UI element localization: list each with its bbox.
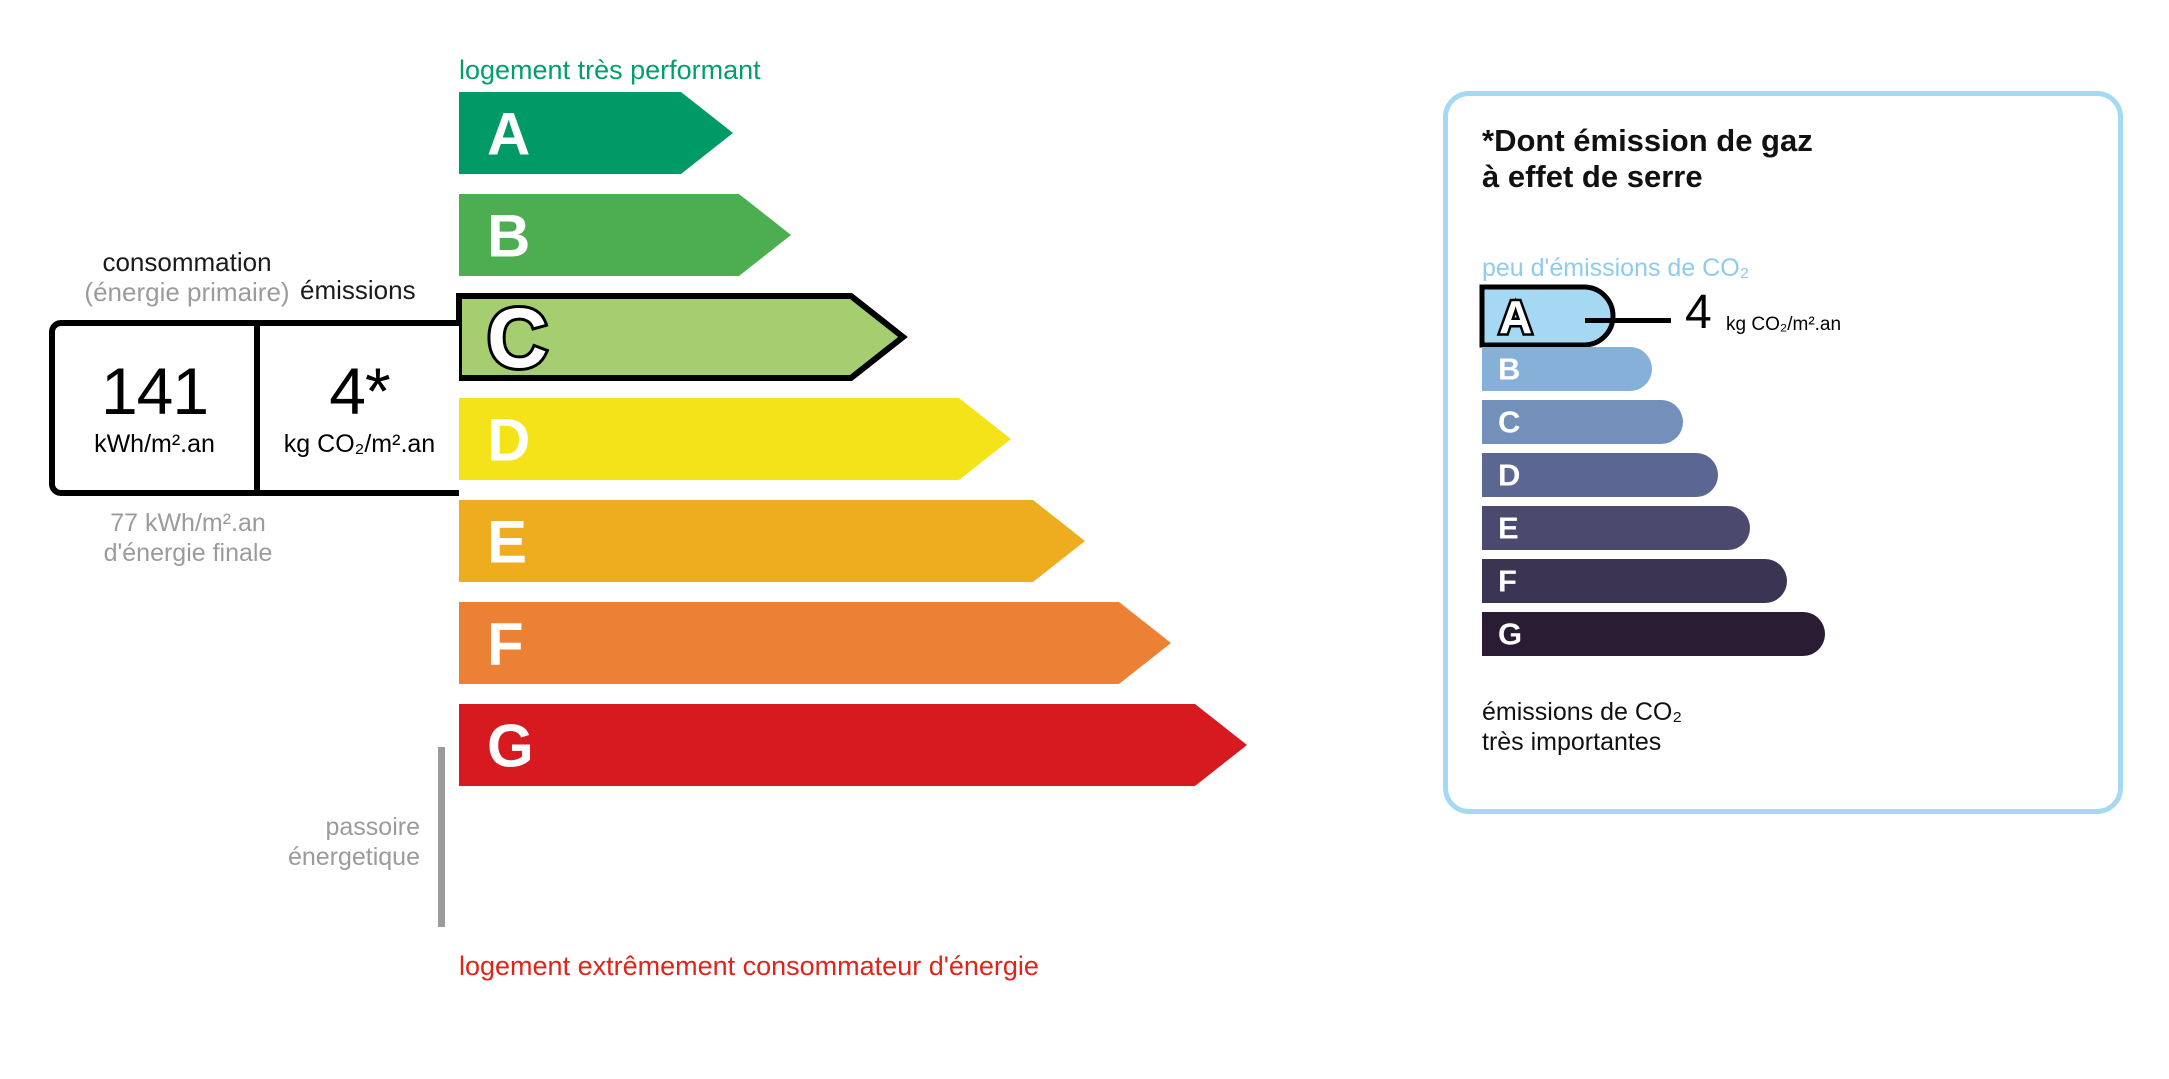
- emissions-label: émissions: [300, 275, 416, 306]
- co2-value-connector-line: [1585, 318, 1671, 323]
- energy-band-letter: G: [487, 713, 534, 780]
- co2-bar-letter: C: [1498, 407, 1520, 438]
- co2-bar-g[interactable]: G: [1482, 612, 1825, 656]
- co2-title-line2: à effet de serre: [1482, 159, 1703, 194]
- co2-emissions-panel: *Dont émission de gaz à effet de serre p…: [1443, 91, 2123, 814]
- co2-value: 4: [1685, 289, 1712, 337]
- co2-bar-letter: E: [1498, 513, 1519, 544]
- energy-value-box: 141 kWh/m².an 4* kg CO₂/m².an: [49, 320, 459, 496]
- co2-bar-shape: G: [1482, 612, 1825, 656]
- consumption-label-sub: (énergie primaire): [62, 278, 312, 308]
- co2-bar-shape: C: [1482, 400, 1683, 444]
- consumption-value: 141: [101, 358, 208, 424]
- co2-bar-shape: F: [1482, 559, 1787, 603]
- co2-bar-letter: D: [1498, 460, 1520, 491]
- co2-bar-shape: D: [1482, 453, 1718, 497]
- co2-bar-letter: A: [1499, 291, 1532, 343]
- co2-bar-a[interactable]: A: [1482, 294, 1618, 338]
- co2-bar-letter: F: [1498, 566, 1517, 597]
- energy-band-letter: A: [487, 101, 530, 168]
- emissions-value-cell: 4* kg CO₂/m².an: [260, 326, 459, 490]
- co2-bar-f[interactable]: F: [1482, 559, 1787, 603]
- energy-band-shape: [459, 500, 1085, 582]
- co2-bar-e[interactable]: E: [1482, 506, 1750, 550]
- co2-title-line1: *Dont émission de gaz: [1482, 123, 1813, 158]
- passoire-label: passoire énergetique: [220, 812, 420, 872]
- energy-band-e[interactable]: E: [459, 500, 1085, 582]
- energy-band-shape: [459, 398, 1011, 480]
- co2-bar-letter: B: [1498, 354, 1520, 385]
- final-energy-note: 77 kWh/m².an d'énergie finale: [58, 508, 318, 568]
- emissions-value: 4*: [329, 358, 389, 424]
- co2-bottom-caption: émissions de CO₂ très importantes: [1482, 698, 1682, 757]
- energy-band-letter: B: [487, 203, 530, 270]
- emissions-unit: kg CO₂/m².an: [284, 430, 435, 459]
- energy-band-b[interactable]: B: [459, 194, 791, 276]
- co2-bar-letter: G: [1498, 619, 1522, 650]
- co2-bar-d[interactable]: D: [1482, 453, 1718, 497]
- co2-bar-shape: E: [1482, 506, 1750, 550]
- consumption-value-cell: 141 kWh/m².an: [55, 326, 260, 490]
- energy-band-letter: F: [487, 611, 524, 678]
- energy-band-g[interactable]: G: [459, 704, 1247, 786]
- co2-bar-c[interactable]: C: [1482, 400, 1683, 444]
- energy-band-c[interactable]: C: [459, 296, 908, 378]
- energy-band-letter: E: [487, 509, 527, 576]
- co2-top-caption: peu d'émissions de CO₂: [1482, 254, 1749, 283]
- passoire-label-line2: énergetique: [288, 843, 420, 871]
- co2-bar-b[interactable]: B: [1482, 347, 1652, 391]
- passoire-marker-bar: [438, 747, 445, 927]
- energy-band-shape: [459, 602, 1171, 684]
- co2-value-unit: kg CO₂/m².an: [1726, 314, 1841, 336]
- co2-panel-title: *Dont émission de gaz à effet de serre: [1482, 123, 1813, 196]
- energy-band-d[interactable]: D: [459, 398, 1011, 480]
- consumption-label: consommation (énergie primaire): [62, 248, 312, 307]
- energy-band-letter: C: [487, 291, 548, 385]
- consumption-unit: kWh/m².an: [94, 430, 215, 459]
- co2-bottom-caption-line1: émissions de CO₂: [1482, 698, 1682, 726]
- consumption-label-main: consommation: [102, 247, 271, 277]
- co2-bottom-caption-line2: très importantes: [1482, 728, 1661, 756]
- co2-bar-shape: B: [1482, 347, 1652, 391]
- energy-band-letter: D: [487, 407, 530, 474]
- energy-band-f[interactable]: F: [459, 602, 1171, 684]
- energy-top-caption: logement très performant: [459, 55, 761, 86]
- passoire-label-line1: passoire: [326, 813, 421, 841]
- energy-band-shape: [459, 704, 1247, 786]
- final-energy-value: 77 kWh/m².an: [110, 509, 266, 537]
- energy-band-a[interactable]: A: [459, 92, 733, 174]
- final-energy-caption: d'énergie finale: [104, 539, 273, 567]
- energy-performance-diagram: logement très performant ABCDEFG consomm…: [0, 0, 1400, 1079]
- energy-bottom-caption: logement extrêmement consommateur d'éner…: [459, 951, 1039, 982]
